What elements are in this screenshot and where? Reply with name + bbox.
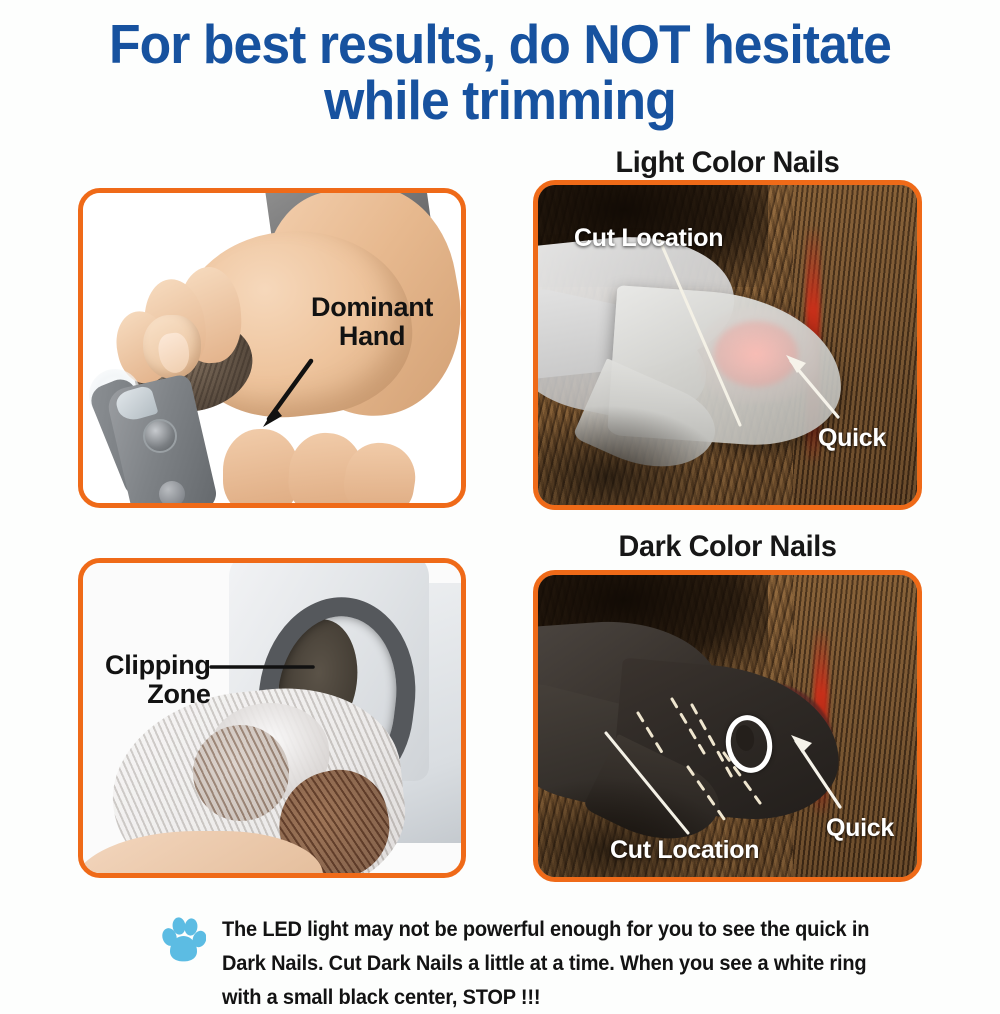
panel-light-color-nails: Cut Location Quick xyxy=(533,180,922,510)
clipping-zone-label: Clipping Zone xyxy=(105,651,211,708)
title-line-2: while trimming xyxy=(30,72,970,128)
shadow-bottom-left xyxy=(538,405,728,505)
heading-dark-color-nails: Dark Color Nails xyxy=(541,530,914,564)
clipping-zone-label-line-2: Zone xyxy=(105,680,211,709)
panel-light-color-nails-image: Cut Location Quick xyxy=(538,185,917,505)
panel-clipping-zone-image: Clipping Zone xyxy=(83,563,461,873)
quick-label-light: Quick xyxy=(818,425,886,452)
footer-note: The LED light may not be powerful enough… xyxy=(160,912,960,1014)
quick-label-dark: Quick xyxy=(826,815,894,842)
panel-dark-color-nails: Cut Location Quick xyxy=(533,570,922,882)
heading-light-color-nails: Light Color Nails xyxy=(541,146,914,180)
panel-dominant-hand-image: Dominant Hand xyxy=(83,193,461,503)
dominant-hand-label: Dominant Hand xyxy=(311,293,433,350)
page-title: For best results, do NOT hesitate while … xyxy=(30,16,970,128)
dominant-hand-label-line-1: Dominant xyxy=(311,293,433,322)
panel-dark-color-nails-image: Cut Location Quick xyxy=(538,575,917,877)
panel-clipping-zone: Clipping Zone xyxy=(78,558,466,878)
clipper-lower-screw xyxy=(159,481,185,503)
clipping-zone-label-line-1: Clipping xyxy=(105,651,211,680)
cut-location-label-light: Cut Location xyxy=(574,225,723,252)
infographic-root: For best results, do NOT hesitate while … xyxy=(0,0,1000,1000)
paw-print-icon xyxy=(160,916,206,966)
cut-location-label-dark: Cut Location xyxy=(610,837,759,864)
quick-core-highlight xyxy=(714,321,798,387)
panel-dominant-hand: Dominant Hand xyxy=(78,188,466,508)
lower-finger-1 xyxy=(223,429,299,503)
dominant-hand-label-line-2: Hand xyxy=(311,322,433,351)
clipper-pivot-screw xyxy=(143,419,177,453)
footer-text: The LED light may not be powerful enough… xyxy=(222,912,908,1014)
title-line-1: For best results, do NOT hesitate xyxy=(109,13,891,75)
